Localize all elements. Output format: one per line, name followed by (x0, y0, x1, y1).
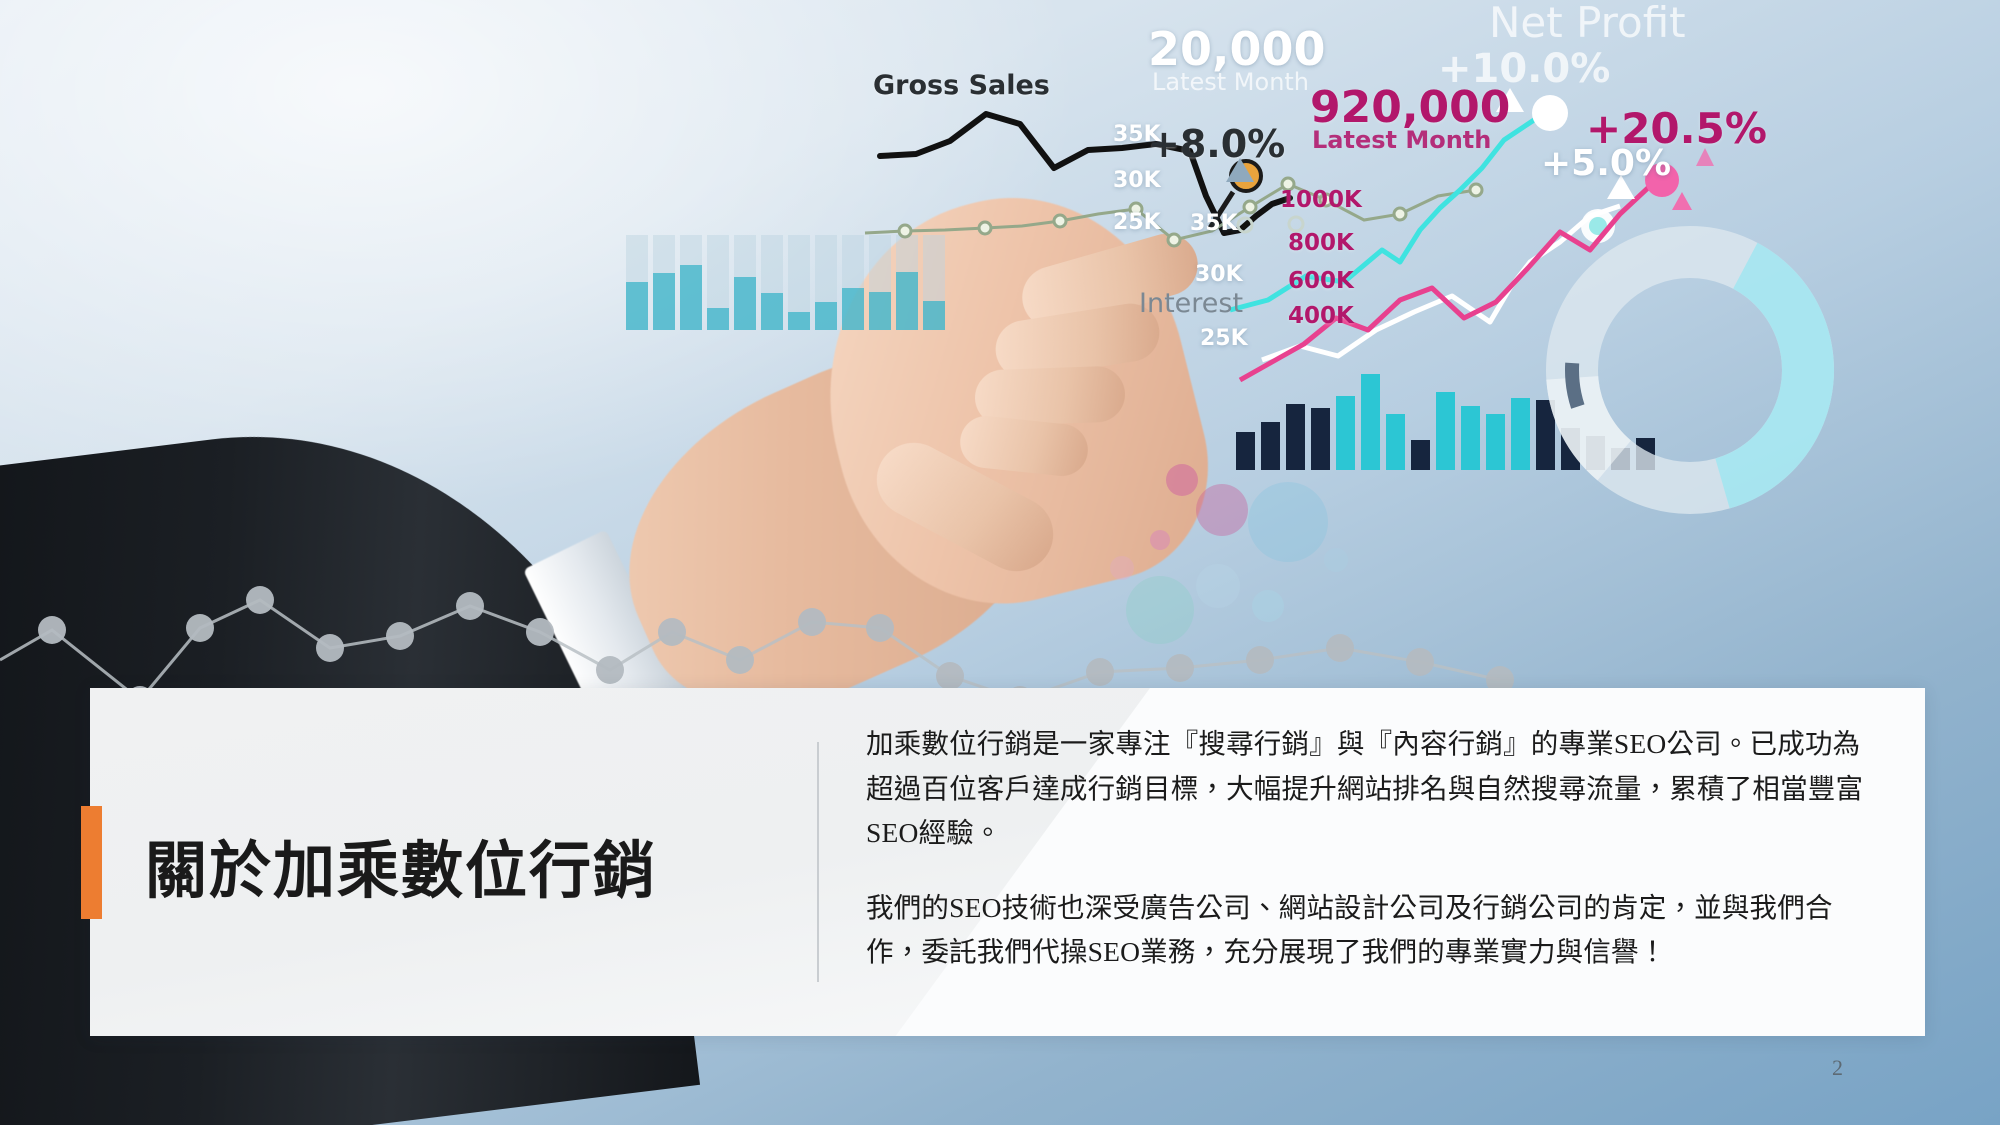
accent-bar (81, 806, 102, 919)
page-title: 關於加乘數位行銷 (145, 837, 765, 908)
slide: Gross Sales 20,000 Latest Month +8.0% Ne… (0, 0, 2000, 1125)
paragraph-2: 我們的SEO技術也深受廣告公司、網站設計公司及行銷公司的肯定，並與我們合作，委託… (866, 886, 1876, 975)
page-number: 2 (1832, 1055, 1843, 1081)
paragraph-1: 加乘數位行銷是一家專注『搜尋行銷』與『內容行銷』的專業SEO公司。已成功為超過百… (866, 722, 1876, 856)
vertical-divider (817, 742, 819, 982)
body-text: 加乘數位行銷是一家專注『搜尋行銷』與『內容行銷』的專業SEO公司。已成功為超過百… (866, 722, 1876, 975)
